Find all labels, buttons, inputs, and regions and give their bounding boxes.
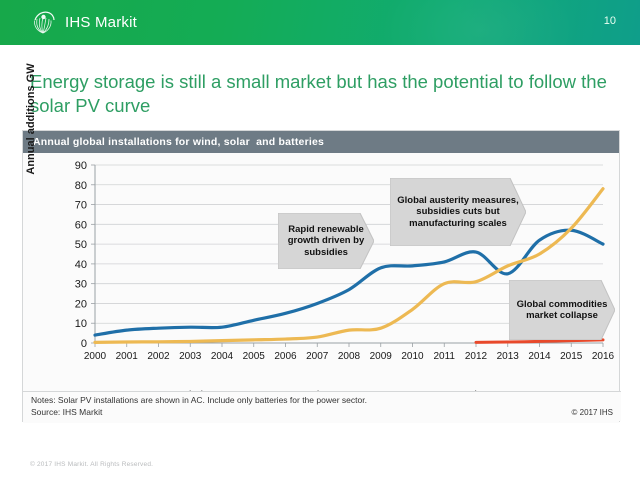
x-tick-label: 2001: [116, 351, 139, 362]
y-tick-label: 20: [75, 298, 87, 310]
y-tick-label: 30: [75, 279, 87, 291]
page-number: 10: [604, 15, 616, 27]
x-tick-label: 2008: [338, 351, 361, 362]
source-text: Source: IHS Markit: [31, 407, 613, 419]
x-tick-label: 2016: [592, 351, 615, 362]
chart-title: Annual global installations for wind, so…: [33, 136, 324, 148]
y-tick-label: 0: [81, 338, 87, 350]
x-tick-label: 2015: [560, 351, 583, 362]
x-tick-label: 2005: [243, 351, 266, 362]
page-header: IHS Markit 10: [0, 0, 640, 45]
x-tick-label: 2003: [179, 351, 202, 362]
x-tick-label: 2000: [84, 351, 107, 362]
x-tick-label: 2009: [370, 351, 393, 362]
ihs-markit-starburst-icon: [28, 7, 58, 37]
x-tick-label: 2010: [401, 351, 424, 362]
callout-commodities-collapse: Global commodities market collapse: [509, 280, 615, 340]
callout-global-austerity: Global austerity measures, subsidies cut…: [390, 178, 526, 246]
x-tick-label: 2012: [465, 351, 488, 362]
brand-logo: IHS Markit: [28, 7, 137, 37]
y-tick-label: 80: [75, 180, 87, 192]
chart-copyright: © 2017 IHS: [572, 408, 613, 417]
x-tick-label: 2011: [433, 351, 455, 362]
x-tick-label: 2006: [274, 351, 297, 362]
y-tick-label: 50: [75, 239, 87, 251]
notes-text: Notes: Solar PV installations are shown …: [31, 395, 613, 407]
series-line-batteries: [476, 340, 603, 343]
x-tick-label: 2014: [528, 351, 551, 362]
x-tick-label: 2007: [306, 351, 329, 362]
y-tick-label: 10: [75, 318, 87, 330]
x-tick-label: 2004: [211, 351, 234, 362]
y-tick-label: 60: [75, 219, 87, 231]
x-tick-label: 2013: [497, 351, 520, 362]
y-tick-label: 90: [75, 160, 87, 172]
page-footer: © 2017 IHS Markit. All Rights Reserved.: [30, 461, 153, 468]
brand-name: IHS Markit: [65, 14, 137, 31]
callout-collapse-text: Global commodities market collapse: [509, 295, 615, 326]
y-tick-label: 40: [75, 259, 87, 271]
plot-area: Annual additions GW 01020304050607080902…: [23, 153, 619, 423]
chart-panel: Annual global installations for wind, so…: [22, 130, 620, 422]
y-tick-label: 70: [75, 200, 87, 212]
chart-notes: Notes: Solar PV installations are shown …: [23, 391, 621, 421]
callout-rapid-renewable-growth: Rapid renewable growth driven by subsidi…: [278, 213, 374, 269]
page-title: Energy storage is still a small market b…: [30, 70, 610, 118]
callout-rapid-text: Rapid renewable growth driven by subsidi…: [278, 220, 374, 263]
chart-panel-header: Annual global installations for wind, so…: [23, 131, 619, 153]
x-tick-label: 2002: [147, 351, 170, 362]
callout-austerity-text: Global austerity measures, subsidies cut…: [390, 191, 526, 234]
